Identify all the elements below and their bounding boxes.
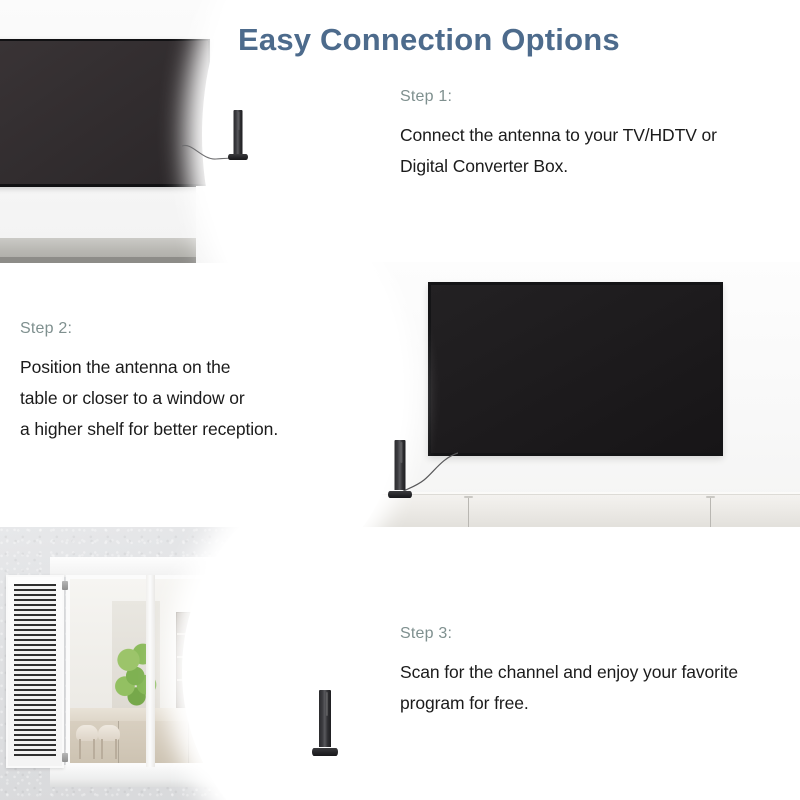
antenna-base bbox=[388, 491, 412, 498]
shutter-louvers bbox=[14, 584, 56, 759]
infographic-page: Easy Connection Options Step 1: Connect … bbox=[0, 0, 800, 800]
antenna-tower bbox=[234, 110, 243, 154]
step-1-label: Step 1: bbox=[400, 88, 717, 106]
antenna bbox=[388, 440, 412, 498]
antenna-base bbox=[312, 748, 338, 756]
tv-screen bbox=[431, 285, 720, 453]
step-2-label: Step 2: bbox=[20, 320, 278, 338]
chair-leg bbox=[115, 739, 117, 759]
window-mullion bbox=[146, 575, 155, 767]
dining-chair bbox=[76, 725, 98, 759]
credenza-divider bbox=[710, 498, 711, 527]
antenna-highlight bbox=[326, 692, 328, 716]
louvered-shutter-left bbox=[6, 575, 64, 768]
step-3-block: Step 3: Scan for the channel and enjoy y… bbox=[400, 625, 738, 719]
chair-leg bbox=[79, 739, 81, 759]
coaxial-cable-icon bbox=[182, 140, 234, 162]
dining-chair bbox=[98, 725, 120, 759]
credenza bbox=[348, 494, 800, 527]
credenza-handle bbox=[706, 496, 715, 498]
step-3-body: Scan for the channel and enjoy your favo… bbox=[400, 657, 738, 719]
step-2-body: Position the antenna on the table or clo… bbox=[20, 352, 278, 445]
antenna-highlight bbox=[401, 442, 402, 463]
step-2-block: Step 2: Position the antenna on the tabl… bbox=[20, 320, 278, 445]
page-title: Easy Connection Options bbox=[238, 22, 620, 58]
step-2-line-1: Position the antenna on the bbox=[20, 352, 278, 383]
credenza-handle bbox=[464, 496, 473, 498]
step-2-line-2: table or closer to a window or bbox=[20, 383, 278, 414]
antenna-base bbox=[228, 154, 248, 160]
chair-leg bbox=[93, 739, 95, 759]
wall-mounted-tv bbox=[428, 282, 723, 456]
console-shelf-lip bbox=[0, 257, 225, 263]
panel-right-fade bbox=[182, 527, 392, 800]
shutter-hinge bbox=[62, 581, 68, 590]
antenna-tower bbox=[319, 690, 331, 747]
step-2-line-3: a higher shelf for better reception. bbox=[20, 414, 278, 445]
chair-leg bbox=[101, 739, 103, 759]
step-1-body: Connect the antenna to your TV/HDTV or D… bbox=[400, 120, 717, 182]
antenna bbox=[312, 690, 338, 756]
step-1-line-2: Digital Converter Box. bbox=[400, 151, 717, 182]
photo-tv-credenza bbox=[320, 262, 800, 527]
shutter-hinge bbox=[62, 753, 68, 762]
antenna-highlight bbox=[239, 112, 240, 130]
step-3-line-1: Scan for the channel and enjoy your favo… bbox=[400, 657, 738, 688]
credenza-divider bbox=[468, 498, 469, 527]
antenna bbox=[228, 110, 248, 160]
tv-screen bbox=[0, 41, 208, 184]
photo-window bbox=[0, 527, 392, 800]
wall-mounted-tv bbox=[0, 39, 210, 187]
step-1-block: Step 1: Connect the antenna to your TV/H… bbox=[400, 88, 717, 182]
step-3-label: Step 3: bbox=[400, 625, 738, 643]
antenna-tower bbox=[395, 440, 406, 490]
step-3-line-2: program for free. bbox=[400, 688, 738, 719]
step-1-line-1: Connect the antenna to your TV/HDTV or bbox=[400, 120, 717, 151]
